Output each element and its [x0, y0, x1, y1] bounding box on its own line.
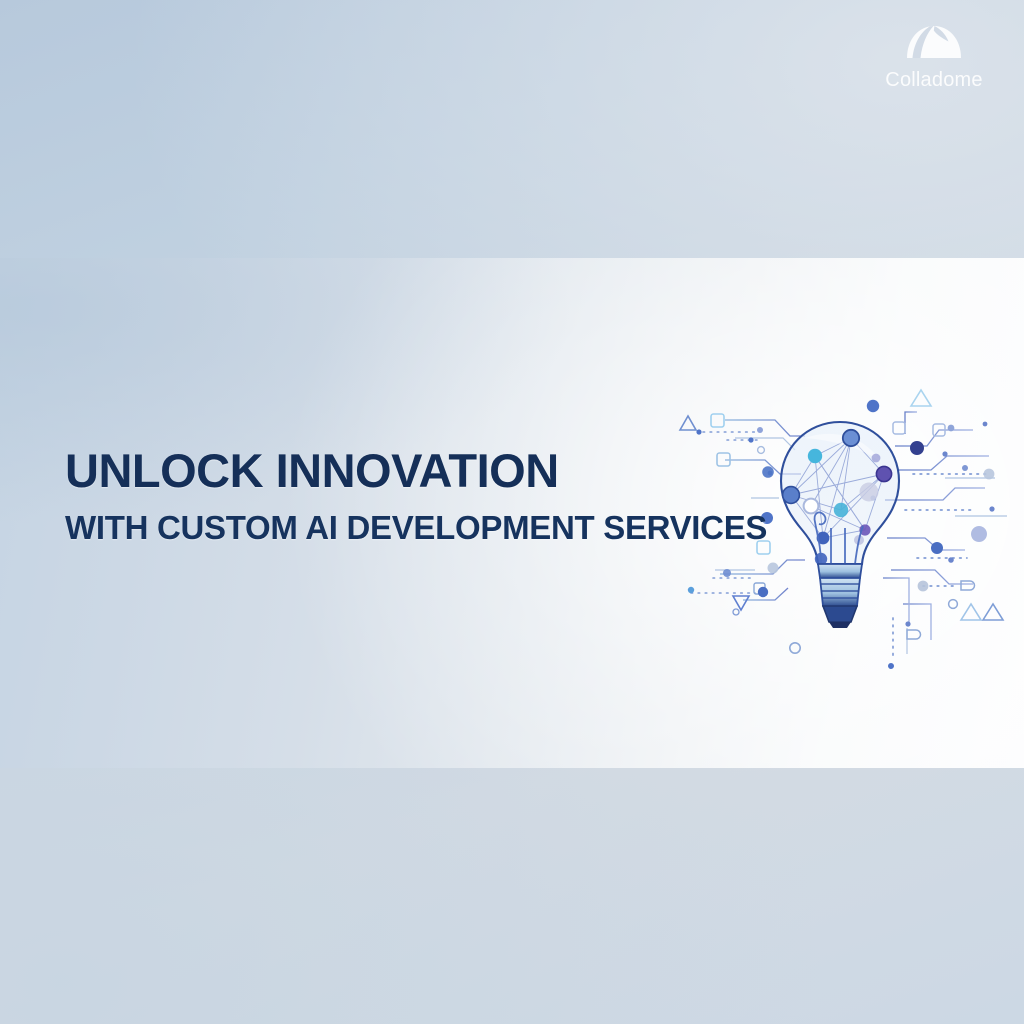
headline-line-2: WITH CUSTOM AI DEVELOPMENT SERVICES	[65, 510, 805, 546]
headline-line-1: UNLOCK INNOVATION	[65, 446, 805, 496]
headline-block: UNLOCK INNOVATION WITH CUSTOM AI DEVELOP…	[65, 446, 805, 546]
dome-icon	[874, 22, 994, 65]
brand-logo[interactable]: Colladome	[874, 22, 994, 92]
brand-name: Colladome	[874, 69, 994, 92]
banner-canvas: Colladome UNLOCK INNOVATION WITH CUSTOM …	[0, 0, 1024, 1024]
